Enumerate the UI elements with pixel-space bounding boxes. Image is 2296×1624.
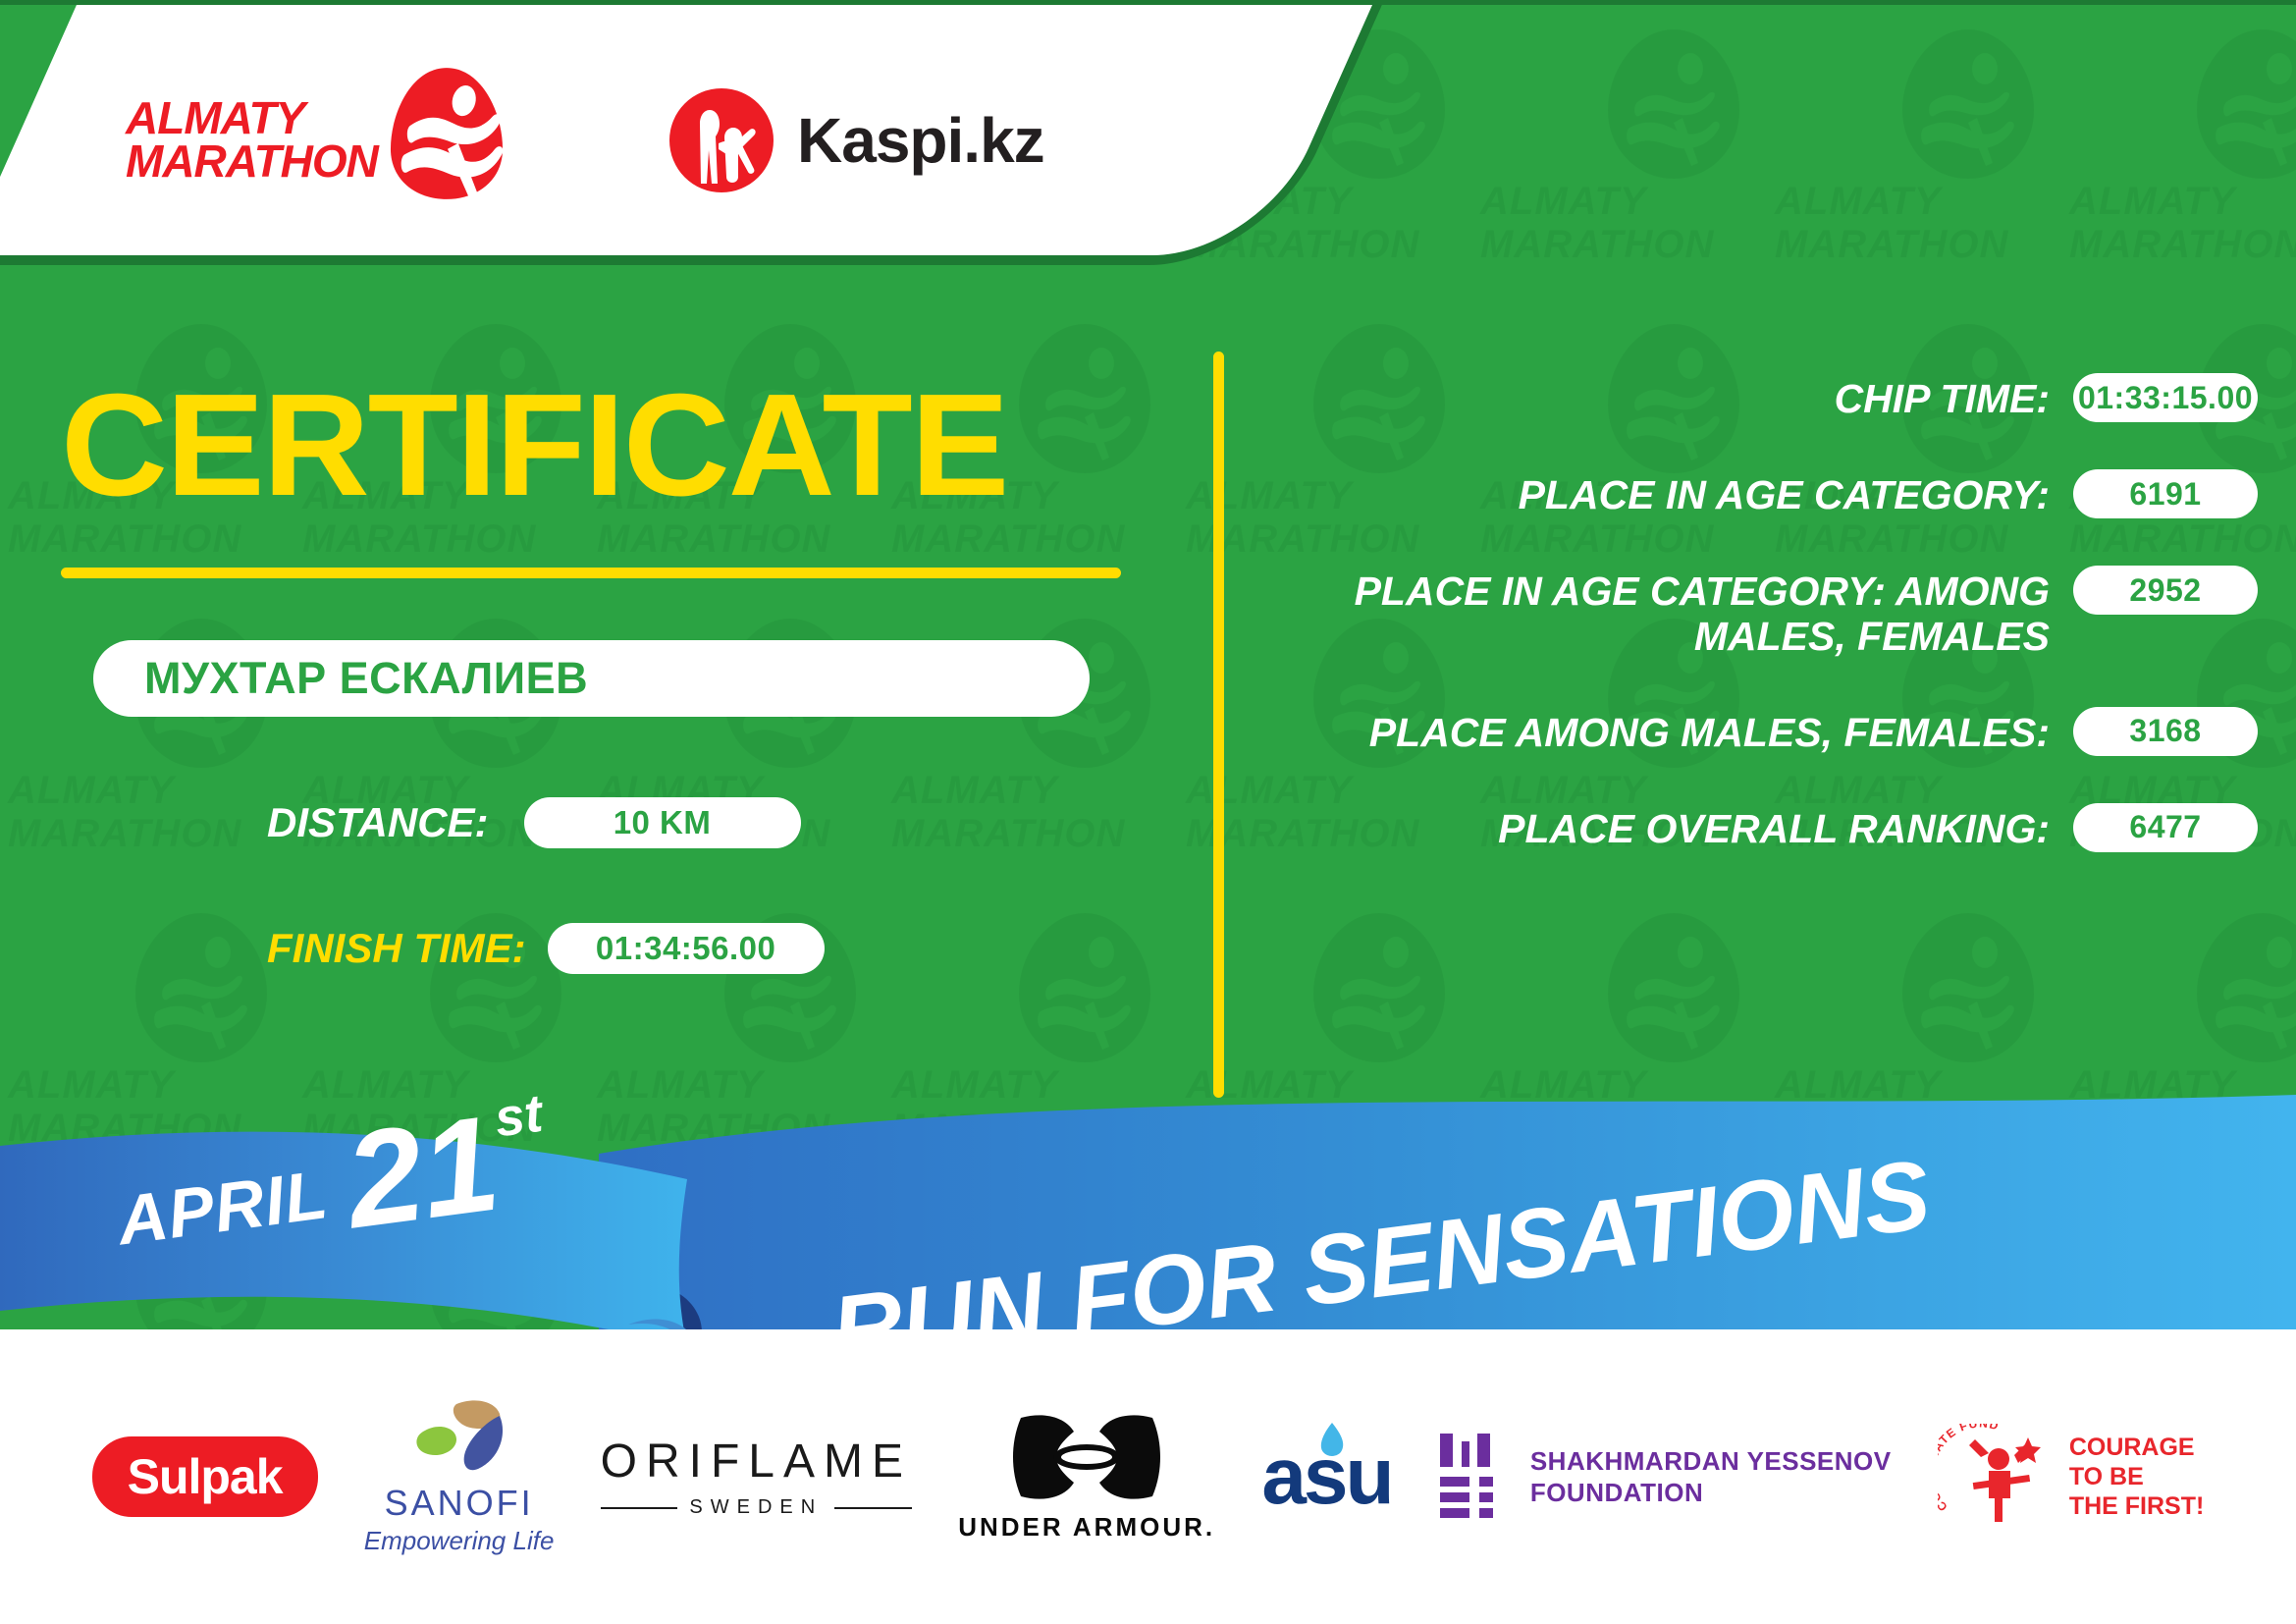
kaspi-logo: Kaspi.kz xyxy=(667,86,1044,194)
result-value: 3168 xyxy=(2073,707,2258,756)
oriflame-rule-right xyxy=(834,1507,912,1509)
header-logos: ALMATY MARATHON Kaspi.kz xyxy=(0,0,1178,285)
results-list: CHIP TIME: 01:33:15.00 PLACE IN AGE CATE… xyxy=(1276,373,2258,874)
under-armour-wordmark: UNDER ARMOUR. xyxy=(958,1512,1215,1543)
sulpak-wordmark: Sulpak xyxy=(92,1436,318,1517)
result-row-place-overall-ranking: PLACE OVERALL RANKING: 6477 xyxy=(1276,803,2258,852)
courage-line3: THE FIRST! xyxy=(2069,1491,2205,1521)
event-month: APRIL xyxy=(113,1155,333,1260)
distance-label: DISTANCE: xyxy=(267,799,489,846)
finish-time-row: FINISH TIME: 01:34:56.00 xyxy=(267,923,825,974)
kaspi-people-circle-icon xyxy=(667,86,775,194)
result-row-place-among-males-females: PLACE AMONG MALES, FEMALES: 3168 xyxy=(1276,707,2258,756)
result-label: CHIP TIME: xyxy=(1276,373,2073,422)
courage-line1: COURAGE xyxy=(2069,1433,2205,1462)
distance-row: DISTANCE: 10 KM xyxy=(267,797,801,848)
certificate-title: CERTIFICATE xyxy=(61,373,1007,518)
oriflame-rule-left xyxy=(601,1507,678,1509)
event-day-suffix: st xyxy=(491,1083,546,1150)
certificate-page: ALMATY MARATHON ALMATY MARATHON xyxy=(0,0,2296,1624)
sponsor-asu: asu xyxy=(1261,1436,1391,1517)
runner-drop-icon xyxy=(389,65,505,202)
svg-text:CORPORATE FUND: CORPORATE FUND xyxy=(1938,1424,2001,1514)
participant-name: МУХТАР ЕСКАЛИЕВ xyxy=(144,653,588,704)
result-row-place-age-category: PLACE IN AGE CATEGORY: 6191 xyxy=(1276,469,2258,518)
sanofi-wordmark: SANOFI xyxy=(385,1483,534,1524)
sponsor-logos: Sulpak SANOFI Empowering Life ORIFLAME S… xyxy=(0,1329,2296,1624)
under-armour-icon xyxy=(1013,1412,1160,1502)
kaspi-wordmark: Kaspi.kz xyxy=(797,104,1044,177)
finish-time-label: FINISH TIME: xyxy=(267,925,526,972)
sanofi-tagline: Empowering Life xyxy=(364,1526,555,1556)
result-value: 6477 xyxy=(2073,803,2258,852)
asu-drop-icon xyxy=(1312,1423,1346,1462)
almaty-marathon-line2: MARATHON xyxy=(126,139,381,183)
sponsor-courage-fund: CORPORATE FUND COURAGE TO BE THE FIRST! xyxy=(1938,1424,2205,1530)
vertical-divider xyxy=(1213,352,1224,1098)
yessenov-name-line1: SHAKHMARDAN YESSENOV xyxy=(1530,1445,1892,1478)
oriflame-wordmark: ORIFLAME xyxy=(601,1435,912,1489)
sanofi-leaf-icon xyxy=(405,1398,513,1479)
yessenov-wordmark: SHAKHMARDAN YESSENOV FOUNDATION xyxy=(1530,1445,1892,1509)
result-value: 01:33:15.00 xyxy=(2073,373,2258,422)
result-value: 6191 xyxy=(2073,469,2258,518)
participant-name-field: МУХТАР ЕСКАЛИЕВ xyxy=(93,640,1090,717)
sponsor-under-armour: UNDER ARMOUR. xyxy=(958,1412,1215,1543)
event-day: 21 xyxy=(340,1106,504,1239)
result-label: PLACE OVERALL RANKING: xyxy=(1276,803,2073,852)
almaty-marathon-logo: ALMATY MARATHON xyxy=(126,59,450,206)
distance-value: 10 KM xyxy=(524,797,801,848)
title-underline-rule xyxy=(61,568,1121,578)
courage-runner-icon: CORPORATE FUND xyxy=(1938,1424,2054,1530)
result-row-place-age-category-among: PLACE IN AGE CATEGORY: AMONG MALES, FEMA… xyxy=(1276,566,2258,660)
almaty-marathon-wordmark: ALMATY MARATHON xyxy=(126,96,381,183)
courage-fund-wordmark: COURAGE TO BE THE FIRST! xyxy=(2069,1433,2205,1521)
result-label: PLACE IN AGE CATEGORY: AMONG MALES, FEMA… xyxy=(1276,566,2073,660)
finish-time-value: 01:34:56.00 xyxy=(548,923,825,974)
almaty-marathon-line1: ALMATY xyxy=(126,96,381,139)
sponsor-sanofi: SANOFI Empowering Life xyxy=(364,1398,555,1556)
courage-line2: TO BE xyxy=(2069,1462,2205,1491)
yessenov-name-line2: FOUNDATION xyxy=(1530,1477,1892,1509)
sponsor-oriflame: ORIFLAME SWEDEN xyxy=(601,1435,912,1519)
result-row-chip-time: CHIP TIME: 01:33:15.00 xyxy=(1276,373,2258,422)
sponsor-yessenov-foundation: SHAKHMARDAN YESSENOV FOUNDATION xyxy=(1438,1432,1892,1522)
result-value: 2952 xyxy=(2073,566,2258,615)
oriflame-subline: SWEDEN xyxy=(601,1496,912,1519)
sponsor-sulpak: Sulpak xyxy=(92,1436,318,1517)
oriflame-tagline: SWEDEN xyxy=(689,1496,823,1519)
result-label: PLACE IN AGE CATEGORY: xyxy=(1276,469,2073,518)
yessenov-bars-icon xyxy=(1438,1432,1509,1522)
result-label: PLACE AMONG MALES, FEMALES: xyxy=(1276,707,2073,756)
